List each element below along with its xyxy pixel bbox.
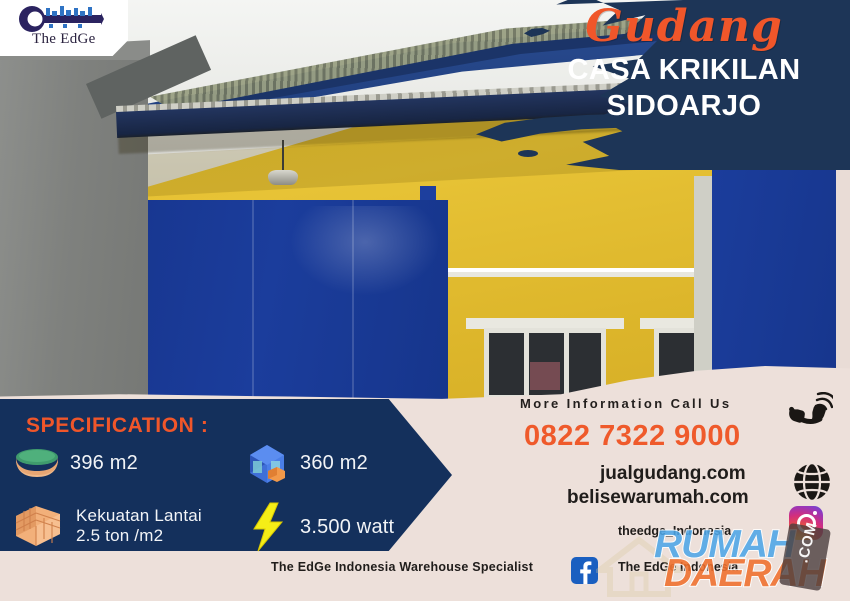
title-line-2: CASA KRIKILAN: [534, 52, 834, 88]
title-line-3: SIDOARJO: [534, 88, 834, 124]
brush-fleck-2: [518, 150, 538, 157]
instagram-handle[interactable]: theedge_Indonesia: [618, 524, 731, 538]
brick-stack-icon: [10, 502, 66, 550]
website-primary[interactable]: jualgudang.com: [600, 463, 746, 485]
spec-floor-strength-value: 2.5 ton /m2: [76, 526, 202, 546]
pendant-lamp-icon: [268, 170, 298, 185]
spec-item-building-area: 360 m2: [244, 441, 368, 485]
door-highlight: [290, 206, 440, 296]
key-skyline-icon: [18, 5, 104, 33]
spec-land-area-value: 396 m2: [70, 451, 138, 475]
facebook-glyph: [571, 557, 598, 584]
spec-item-land-area: 396 m2: [14, 446, 138, 480]
instagram-lens: [797, 514, 816, 533]
globe-icon: [790, 460, 834, 504]
more-information-label: More Information Call Us: [520, 396, 731, 411]
door-seam-1: [252, 200, 254, 430]
facebook-icon[interactable]: [571, 557, 598, 584]
spec-building-area-value: 360 m2: [300, 451, 368, 475]
website-secondary[interactable]: belisewarumah.com: [567, 487, 749, 509]
phone-ringing-icon: [787, 392, 833, 440]
spec-item-power: 3.500 watt: [248, 502, 394, 552]
window-left-tint: [530, 362, 560, 390]
white-trim-highlight: [448, 268, 712, 272]
title-block: Gudang CASA KRIKILAN SIDOARJO: [534, 4, 834, 125]
footer-tagline: The EdGe Indonesia Warehouse Specialist: [271, 560, 533, 574]
spec-item-floor-strength: Kekuatan Lantai 2.5 ton /m2: [10, 502, 202, 550]
logo-badge[interactable]: The EdGe: [0, 0, 128, 56]
phone-number[interactable]: 0822 7322 9000: [524, 420, 741, 453]
lamp-wire: [282, 140, 284, 172]
window-left-mullion-2: [564, 328, 569, 400]
specification-heading: SPECIFICATION :: [26, 414, 208, 438]
lightning-bolt-icon: [248, 502, 290, 552]
spec-floor-strength-label: Kekuatan Lantai: [76, 506, 202, 526]
facebook-handle[interactable]: The EdGe Indonesia: [618, 560, 738, 574]
title-script: Gudang: [534, 4, 834, 50]
land-plot-icon: [14, 446, 60, 480]
instagram-icon[interactable]: [789, 506, 823, 540]
logo-text: The EdGe: [32, 31, 96, 48]
warehouse-3d-icon: [244, 441, 290, 485]
advertisement-poster: Gudang CASA KRIKILAN SIDOARJO The EdGe S…: [0, 0, 850, 601]
window-left-mullion-1: [524, 328, 529, 400]
instagram-dot: [813, 511, 817, 515]
spec-power-value: 3.500 watt: [300, 515, 394, 539]
